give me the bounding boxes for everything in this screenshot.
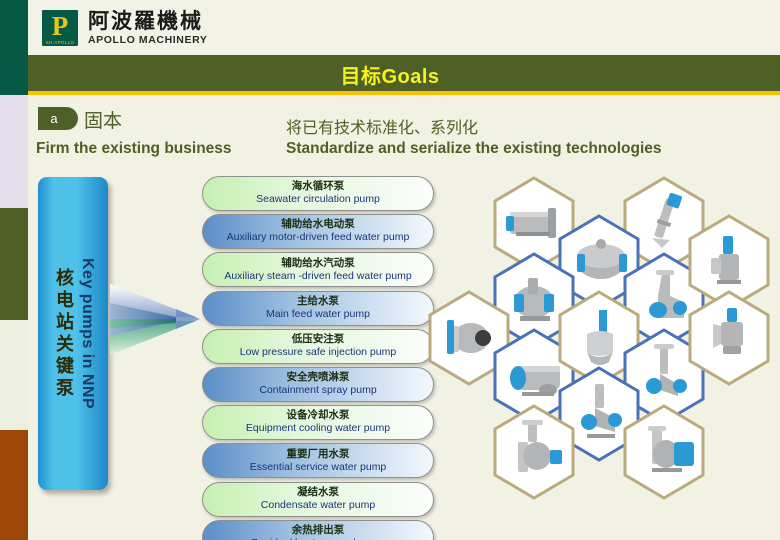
pump-name-en: Auxiliary motor-driven feed water pump: [227, 231, 410, 244]
pump-list-item[interactable]: 辅助给水电动泵Auxiliary motor-driven feed water…: [202, 214, 434, 249]
logo-sublabel: SH·APOLLO: [42, 40, 78, 45]
brand-name-cn: 阿波羅機械: [88, 11, 207, 32]
headline-left-en: Firm the existing business: [36, 140, 232, 158]
pump-list-item[interactable]: 重要厂用水泵Essential service water pump: [202, 443, 434, 478]
section-badge: a: [38, 107, 78, 130]
hex-photo-flange-pump[interactable]: [492, 404, 576, 500]
rail-segment-cream: [0, 320, 28, 430]
pump-name-cn: 主给水泵: [297, 296, 339, 307]
pump-list-item[interactable]: 设备冷却水泵Equipment cooling water pump: [202, 405, 434, 440]
pump-list-item[interactable]: 凝结水泵Condensate water pump: [202, 482, 434, 517]
pump-name-en: Seawater circulation pump: [256, 193, 380, 206]
apollo-logo-icon: P SH·APOLLO: [42, 10, 78, 46]
cone-arrow-icon: [110, 281, 202, 357]
pump-name-cn: 海水循环泵: [292, 181, 345, 192]
pump-name-cn: 辅助给水电动泵: [281, 219, 355, 230]
product-photo-cluster: [462, 176, 780, 536]
rail-segment-olive: [0, 208, 28, 320]
rail-segment-brown: [0, 430, 28, 540]
rail-segment-lavender: [0, 95, 28, 208]
pump-name-en: Equipment cooling water pump: [246, 422, 390, 435]
pump-name-en: Condensate water pump: [261, 499, 375, 512]
headline-right-en: Standardize and serialize the existing t…: [286, 140, 662, 158]
pump-name-cn: 设备冷却水泵: [287, 410, 350, 421]
pump-name-en: Containment spray pump: [259, 384, 376, 397]
pump-list-item[interactable]: 海水循环泵Seawater circulation pump: [202, 176, 434, 211]
logo-letter: P: [52, 13, 69, 40]
pump-list: 海水循环泵Seawater circulation pump辅助给水电动泵Aux…: [202, 176, 434, 540]
pump-list-item[interactable]: 低压安注泵Low pressure safe injection pump: [202, 329, 434, 364]
pump-list-item[interactable]: 安全壳喷淋泵Containment spray pump: [202, 367, 434, 402]
pump-name-cn: 辅助给水汽动泵: [281, 258, 355, 269]
pump-name-en: Essential service water pump: [250, 461, 387, 474]
pump-name-cn: 余热排出泵: [292, 525, 345, 536]
pump-name-en: Low pressure safe injection pump: [240, 346, 396, 359]
brand-logo: P SH·APOLLO 阿波羅機械 APOLLO MACHINERY: [42, 10, 207, 46]
headline-right-cn: 将已有技术标准化、系列化: [286, 114, 478, 138]
hex-photo-blue-motor-pump[interactable]: [622, 404, 706, 500]
pump-name-en: Auxiliary steam -driven feed water pump: [224, 270, 411, 283]
page-title: 目标Goals: [0, 60, 780, 89]
pump-list-item[interactable]: 主给水泵Main feed water pump: [202, 291, 434, 326]
slide-canvas: P SH·APOLLO 阿波羅機械 APOLLO MACHINERY 目标Goa…: [0, 0, 780, 540]
pump-name-cn: 安全壳喷淋泵: [287, 372, 350, 383]
key-pumps-label-en: Key pumps in NNP: [78, 258, 96, 409]
title-accent-bar: [28, 91, 780, 95]
pump-list-item[interactable]: 余热排出泵Residual heat removal pump: [202, 520, 434, 540]
key-pumps-banner: 核电站关键泵 Key pumps in NNP: [38, 177, 108, 490]
pump-list-item[interactable]: 辅助给水汽动泵Auxiliary steam -driven feed wate…: [202, 252, 434, 287]
pump-name-en: Main feed water pump: [266, 308, 370, 321]
pump-name-cn: 凝结水泵: [297, 487, 339, 498]
pump-name-cn: 重要厂用水泵: [287, 449, 350, 460]
hex-photo-vertical-motor[interactable]: [687, 290, 771, 386]
pump-name-cn: 低压安注泵: [292, 334, 345, 345]
key-pumps-label-cn: 核电站关键泵: [50, 268, 76, 400]
headline-left-cn: 固本: [84, 106, 122, 133]
brand-name-en: APOLLO MACHINERY: [88, 35, 207, 46]
